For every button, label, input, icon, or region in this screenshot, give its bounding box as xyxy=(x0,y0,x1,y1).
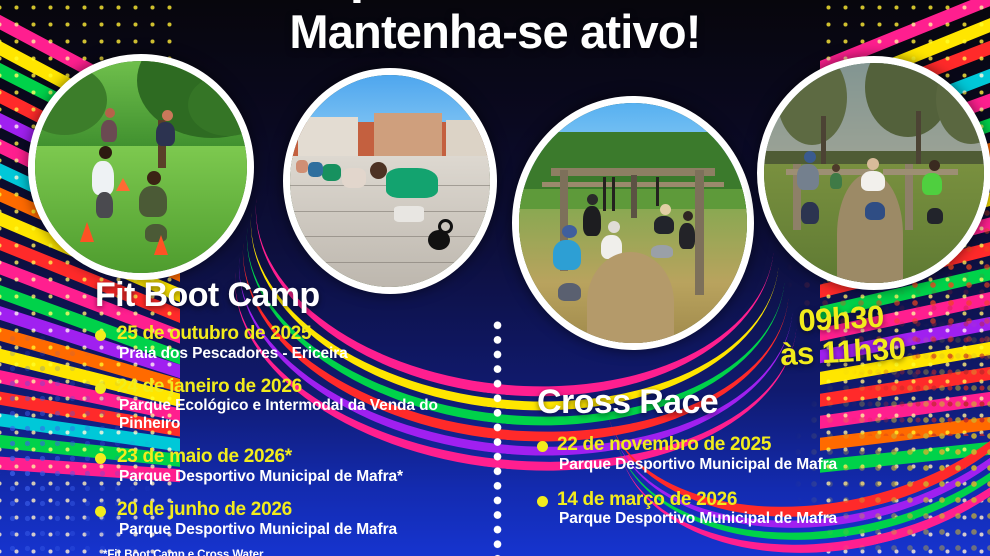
event-date: 23 de maio de 2026* xyxy=(117,447,470,468)
photo-trail-stretching xyxy=(757,56,990,290)
bullet-icon xyxy=(95,453,106,464)
event-date: 22 de novembro de 2025 xyxy=(557,435,887,456)
poster-root: Desporto ao ar livre Mantenha-se ativo! … xyxy=(0,0,990,556)
headline-cut-text: Desporto ao ar livre xyxy=(0,0,990,3)
list-item: 14 de março de 2026 Parque Desportivo Mu… xyxy=(537,490,887,529)
bullet-icon xyxy=(537,496,548,507)
event-date: 25 de outubro de 2025 xyxy=(117,324,470,345)
list-item: 24 de janeiro de 2026 Parque Ecológico e… xyxy=(95,377,470,434)
event-list-cross-race: 22 de novembro de 2025 Parque Desportivo… xyxy=(537,435,887,528)
section-fit-boot-camp: Fit Boot Camp 25 de outubro de 2025 Prai… xyxy=(95,278,470,556)
bullet-icon xyxy=(95,506,106,517)
bullet-icon xyxy=(95,330,106,341)
event-date: 20 de junho de 2026 xyxy=(117,500,470,521)
event-place: Parque Desportivo Municipal de Mafra xyxy=(557,456,887,474)
photo-boot-camp-grass xyxy=(28,54,254,280)
photo-pergola-training xyxy=(512,96,754,350)
list-item: 20 de junho de 2026 Parque Desportivo Mu… xyxy=(95,500,470,539)
headline-cut-off: Desporto ao ar livre xyxy=(0,0,990,3)
event-place: Parque Desportivo Municipal de Mafra xyxy=(117,521,470,539)
page-title: Mantenha-se ativo! xyxy=(0,8,990,55)
bullet-icon xyxy=(537,441,548,452)
list-item: 25 de outubro de 2025 Praia dos Pescador… xyxy=(95,324,470,363)
section-cross-race: Cross Race 22 de novembro de 2025 Parque… xyxy=(537,385,887,528)
event-place: Parque Ecológico e Intermodal da Venda d… xyxy=(117,397,470,433)
section-title-fit-boot-camp: Fit Boot Camp xyxy=(95,278,470,312)
bullet-icon xyxy=(95,383,106,394)
list-item: 22 de novembro de 2025 Parque Desportivo… xyxy=(537,435,887,474)
event-date: 24 de janeiro de 2026 xyxy=(117,377,470,398)
event-time: 09h30 às 11h30 xyxy=(740,298,943,374)
list-item: 23 de maio de 2026* Parque Desportivo Mu… xyxy=(95,447,470,486)
event-list-fit-boot-camp: 25 de outubro de 2025 Praia dos Pescador… xyxy=(95,324,470,539)
event-place: Praia dos Pescadores - Ericeira xyxy=(117,345,470,363)
photo-plank-row xyxy=(283,68,497,294)
event-date: 14 de março de 2026 xyxy=(557,490,887,511)
section-title-cross-race: Cross Race xyxy=(537,385,887,419)
footnote: *Fit Boot Camp e Cross Water xyxy=(95,549,470,556)
event-place: Parque Desportivo Municipal de Mafra xyxy=(557,510,887,528)
event-place: Parque Desportivo Municipal de Mafra* xyxy=(117,468,470,486)
column-divider xyxy=(493,318,502,556)
